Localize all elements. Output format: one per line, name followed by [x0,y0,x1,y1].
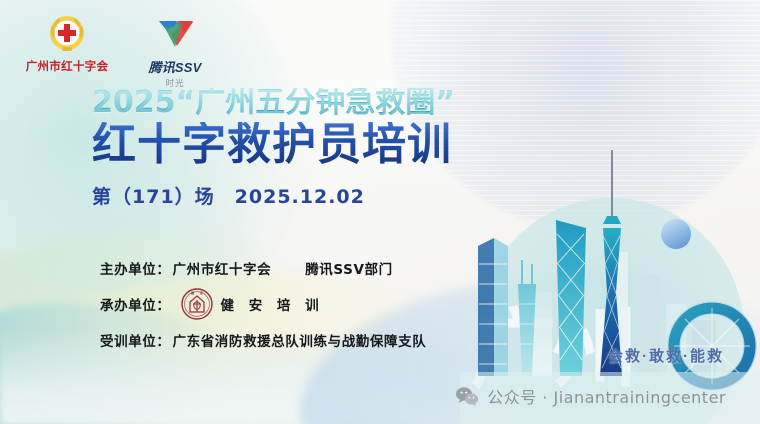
svg-text:健: 健 [191,290,195,295]
skyline-buildings [460,124,760,424]
svg-text:安: 安 [200,290,204,295]
info-row-trainee: 受训单位： 广东省消防救援总队训练与战勤保障支队 [100,322,426,358]
guangzhou-skyline-illustration: 广州 [460,124,760,424]
tencent-ssv-triangle-icon [153,12,197,56]
wechat-icon [455,386,479,406]
skyline-tagline: 会救·敢救·能救 [608,345,724,366]
info-row-organizer: 承办单位： 健安 健 安 培 训 [100,286,426,322]
info-value-host-2: 腾讯SSV部门 [305,258,393,278]
info-value-host-1: 广州市红十字会 [173,258,272,278]
logo-label-tencent-ssv: 腾讯SSV [148,57,201,76]
wechat-footer: 公众号 · Jianantrainingcenter [455,384,726,408]
page-title: 红十字救护员培训 [92,122,455,168]
session-subtitle: 第（171）场 2025.12.02 [92,182,455,209]
training-poster: 广州 [0,0,760,424]
organizer-info-list: 主办单位： 广州市红十字会 腾讯SSV部门 承办单位： 健安 健 安 培 [100,250,426,358]
info-label-host: 主办单位： [100,258,171,278]
wechat-account-text: 公众号 · Jianantrainingcenter [487,384,726,408]
jianan-circular-seal-icon: 健安 [181,288,213,320]
organizer-logos: 广州市红十字会 腾讯SSV 时光 [24,12,218,89]
info-label-trainee: 受训单位： [100,330,171,350]
info-label-organizer: 承办单位： [100,294,171,314]
title-year-line: 2025“广州五分钟急救圈” [92,88,455,118]
info-value-trainee: 广东省消防救援总队训练与战勤保障支队 [173,330,427,350]
logo-tencent-ssv: 腾讯SSV 时光 [132,12,218,89]
red-cross-wreath-icon [45,12,89,56]
logo-label-red-cross: 广州市红十字会 [26,58,109,74]
poster-title-block: 2025“广州五分钟急救圈” 红十字救护员培训 第（171）场 2025.12.… [92,88,455,209]
logo-guangzhou-red-cross: 广州市红十字会 [24,12,110,74]
info-row-host: 主办单位： 广州市红十字会 腾讯SSV部门 [100,250,426,286]
info-value-organizer: 健 安 培 训 [221,294,324,314]
